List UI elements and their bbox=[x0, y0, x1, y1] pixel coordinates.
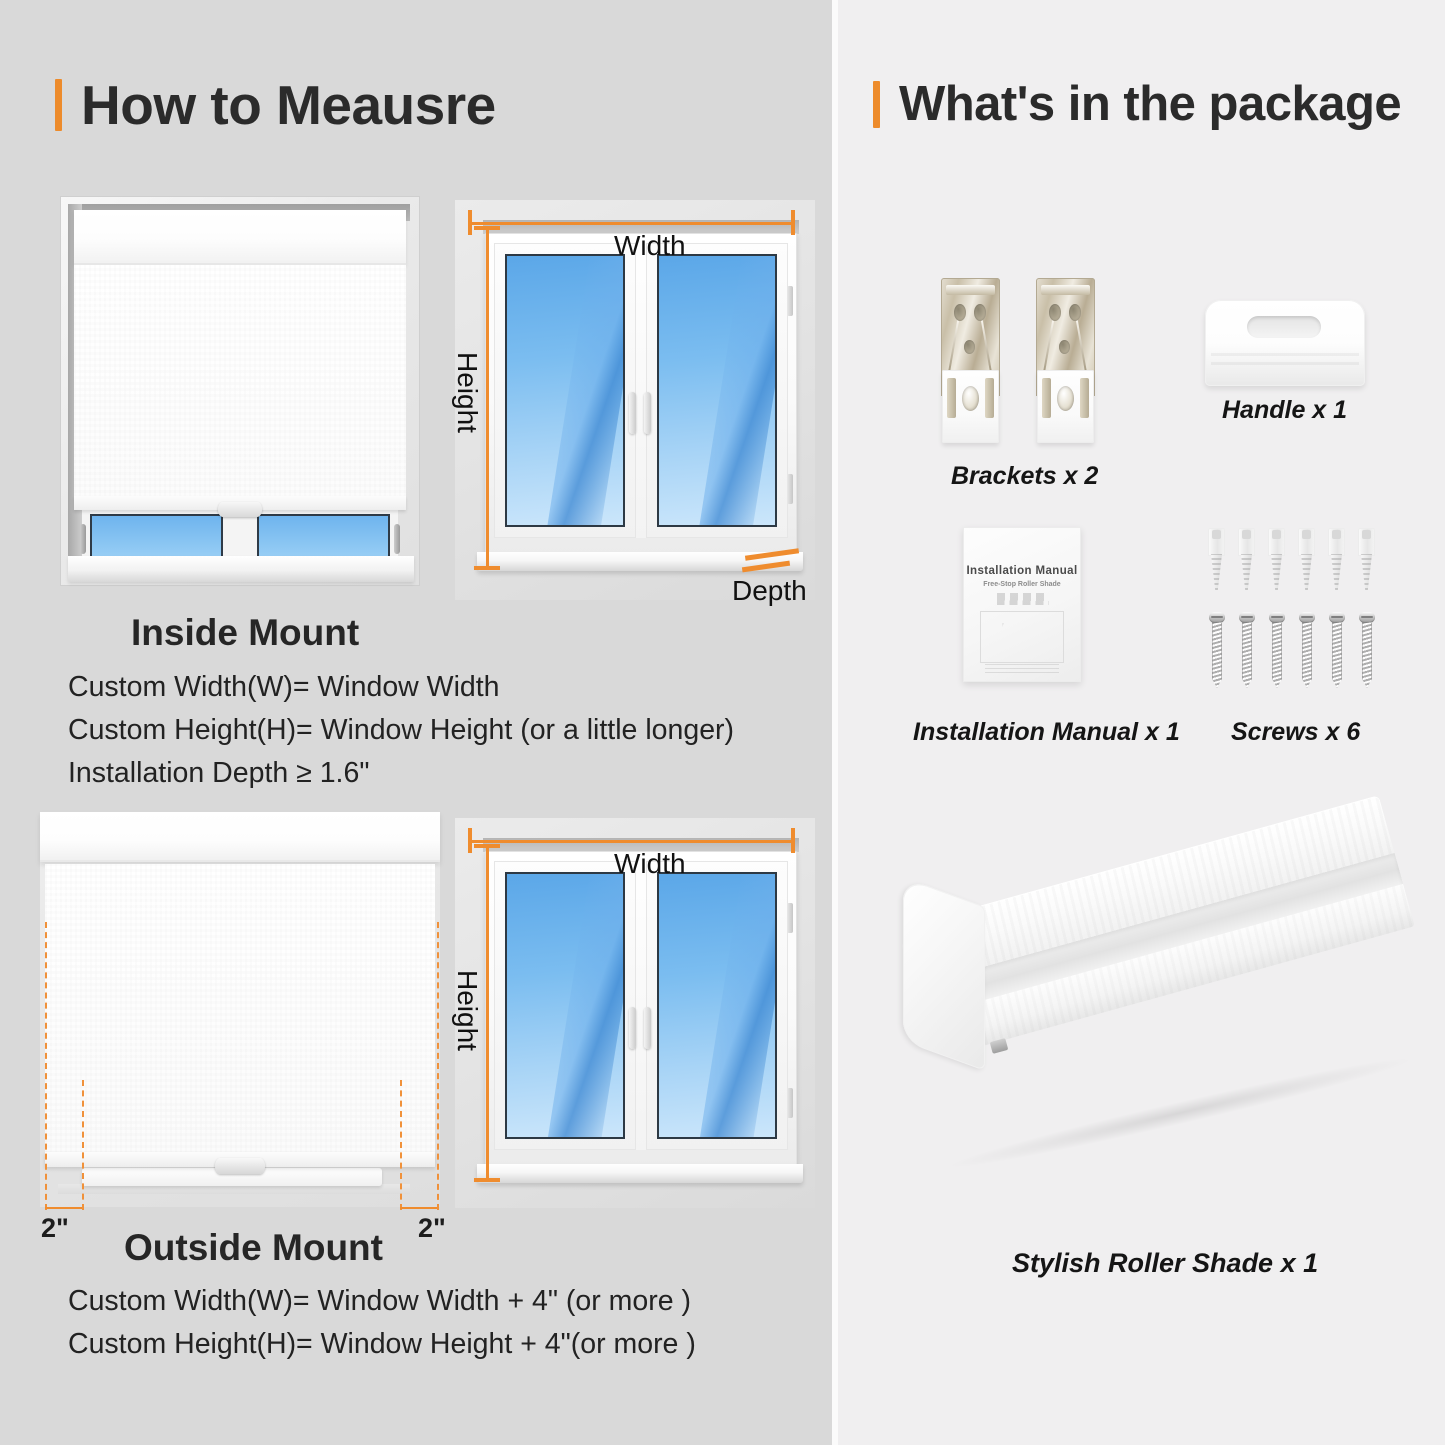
roller-shade-label: Stylish Roller Shade x 1 bbox=[1012, 1248, 1318, 1279]
spec-line: Installation Depth ≥ 1.6" bbox=[68, 755, 734, 798]
installation-manual-label: Installation Manual x 1 bbox=[913, 718, 1180, 747]
wall-anchor-part bbox=[1268, 528, 1285, 590]
bracket-part bbox=[941, 278, 1000, 443]
outside-mount-window-diagram: Width Height bbox=[455, 818, 815, 1208]
overhang-guide-line bbox=[400, 1080, 402, 1210]
screw-part bbox=[1269, 612, 1285, 688]
wall-anchor-part bbox=[1298, 528, 1315, 590]
installation-manual-part: Installation Manual Free-Stop Roller Sha… bbox=[963, 527, 1081, 682]
outside-mount-title: Outside Mount bbox=[124, 1227, 383, 1269]
overhang-guide-line bbox=[437, 922, 439, 1210]
wall-anchor-part bbox=[1358, 528, 1375, 590]
accent-bar-icon bbox=[873, 81, 880, 128]
height-measure-line bbox=[486, 844, 489, 1180]
window-handle-icon bbox=[394, 524, 400, 554]
shade-cassette bbox=[74, 210, 406, 265]
spec-line: Custom Height(H)= Window Height (or a li… bbox=[68, 712, 734, 755]
wall-anchor-part bbox=[1208, 528, 1225, 590]
inside-mount-window-diagram: Width Height Depth bbox=[455, 200, 815, 600]
shade-end-cap bbox=[903, 877, 985, 1071]
inside-mount-shade-illustration bbox=[60, 196, 420, 586]
height-label: Height bbox=[451, 970, 483, 1051]
handle-part bbox=[1205, 300, 1365, 386]
screw-part bbox=[1239, 612, 1255, 688]
width-label: Width bbox=[614, 230, 686, 262]
screw-part bbox=[1209, 612, 1225, 688]
roller-shade-product-image bbox=[905, 890, 1425, 1210]
shade-pull-handle-icon bbox=[215, 1158, 265, 1174]
shade-pull-handle-icon bbox=[218, 502, 262, 517]
height-measure-line bbox=[486, 226, 489, 568]
overhang-arrow-right bbox=[400, 1207, 437, 1209]
how-to-measure-title: How to Meausre bbox=[81, 73, 496, 137]
width-label: Width bbox=[614, 848, 686, 880]
inside-mount-spec-list: Custom Width(W)= Window Width Custom Hei… bbox=[68, 669, 734, 798]
infographic-root: How to Meausre What's in the package bbox=[0, 0, 1445, 1445]
screw-part bbox=[1329, 612, 1345, 688]
inside-mount-title: Inside Mount bbox=[131, 612, 359, 654]
overhang-left-label: 2" bbox=[41, 1213, 69, 1244]
wall-anchor-part bbox=[1328, 528, 1345, 590]
window-handle-icon bbox=[80, 524, 86, 554]
screws-label: Screws x 6 bbox=[1231, 718, 1360, 747]
outside-mount-shade-illustration bbox=[40, 812, 440, 1207]
wall-anchor-part bbox=[1238, 528, 1255, 590]
handle-label: Handle x 1 bbox=[1222, 396, 1347, 425]
overhang-guide-line bbox=[82, 1080, 84, 1210]
depth-label: Depth bbox=[732, 575, 807, 607]
shade-fabric bbox=[45, 864, 435, 1154]
package-title: What's in the package bbox=[899, 76, 1401, 132]
manual-cover-title: Installation Manual bbox=[963, 565, 1081, 577]
brackets-label: Brackets x 2 bbox=[951, 462, 1098, 491]
accent-bar-icon bbox=[55, 79, 62, 131]
height-label: Height bbox=[451, 352, 483, 433]
handle-slot-icon bbox=[1247, 316, 1321, 338]
screw-part bbox=[1299, 612, 1315, 688]
width-measure-line bbox=[468, 840, 792, 843]
outside-mount-spec-list: Custom Width(W)= Window Width + 4" (or m… bbox=[68, 1283, 696, 1369]
manual-cover-subtitle: Free-Stop Roller Shade bbox=[963, 581, 1081, 588]
shade-cassette bbox=[40, 812, 440, 862]
overhang-guide-line bbox=[45, 922, 47, 1210]
shade-fabric bbox=[74, 265, 406, 499]
overhang-right-label: 2" bbox=[418, 1213, 446, 1244]
package-heading: What's in the package bbox=[873, 76, 1401, 132]
how-to-measure-heading: How to Meausre bbox=[55, 73, 496, 137]
spec-line: Custom Width(W)= Window Width bbox=[68, 669, 734, 712]
spec-line: Custom Height(H)= Window Height + 4"(or … bbox=[68, 1326, 696, 1369]
screw-part bbox=[1359, 612, 1375, 688]
window-glass-row bbox=[90, 514, 390, 562]
bracket-part bbox=[1036, 278, 1095, 443]
spec-line: Custom Width(W)= Window Width + 4" (or m… bbox=[68, 1283, 696, 1326]
width-measure-line bbox=[468, 222, 792, 225]
overhang-arrow-left bbox=[45, 1207, 82, 1209]
